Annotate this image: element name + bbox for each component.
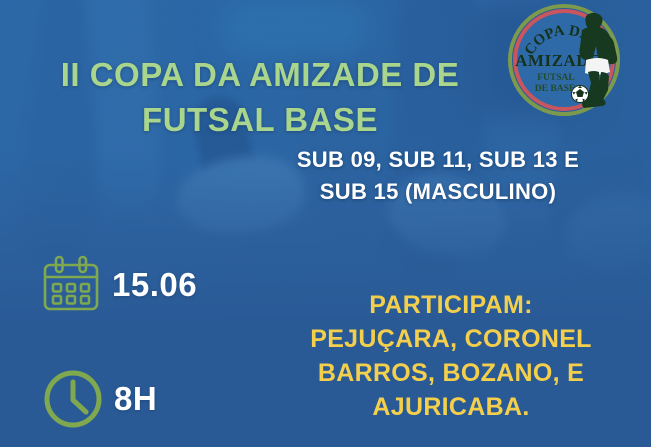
- event-date-row: 15.06: [38, 252, 197, 318]
- participants-line-4: AJURICABA.: [258, 390, 644, 424]
- title-line-1: II COPA DA AMIZADE DE: [0, 52, 520, 97]
- participants-block: PARTICIPAM: PEJUÇARA, CORONEL BARROS, BO…: [258, 288, 644, 424]
- poster-title: II COPA DA AMIZADE DE FUTSAL BASE: [0, 52, 520, 142]
- participants-line-2: PEJUÇARA, CORONEL: [258, 322, 644, 356]
- badge-sub-text-2: DE BASE: [535, 84, 575, 94]
- subtitle-line-2: SUB 15 (MASCULINO): [243, 176, 633, 208]
- event-time-row: 8H: [42, 368, 157, 430]
- copa-amizade-badge-icon: COPA DA AMIZADE FUTSAL DE BASE: [508, 4, 620, 116]
- event-date-value: 15.06: [112, 266, 197, 304]
- futsal-tournament-poster: II COPA DA AMIZADE DE FUTSAL BASE SUB 09…: [0, 0, 651, 447]
- poster-subtitle: SUB 09, SUB 11, SUB 13 E SUB 15 (MASCULI…: [243, 144, 633, 208]
- badge-svg: COPA DA AMIZADE FUTSAL DE BASE: [508, 4, 620, 116]
- badge-sub-text-1: FUTSAL: [537, 73, 574, 83]
- participants-line-3: BARROS, BOZANO, E: [258, 356, 644, 390]
- subtitle-line-1: SUB 09, SUB 11, SUB 13 E: [243, 144, 633, 176]
- title-line-2: FUTSAL BASE: [0, 97, 520, 142]
- participants-heading: PARTICIPAM:: [258, 288, 644, 322]
- clock-icon: [42, 368, 104, 430]
- event-time-value: 8H: [114, 380, 157, 418]
- calendar-icon: [38, 252, 104, 318]
